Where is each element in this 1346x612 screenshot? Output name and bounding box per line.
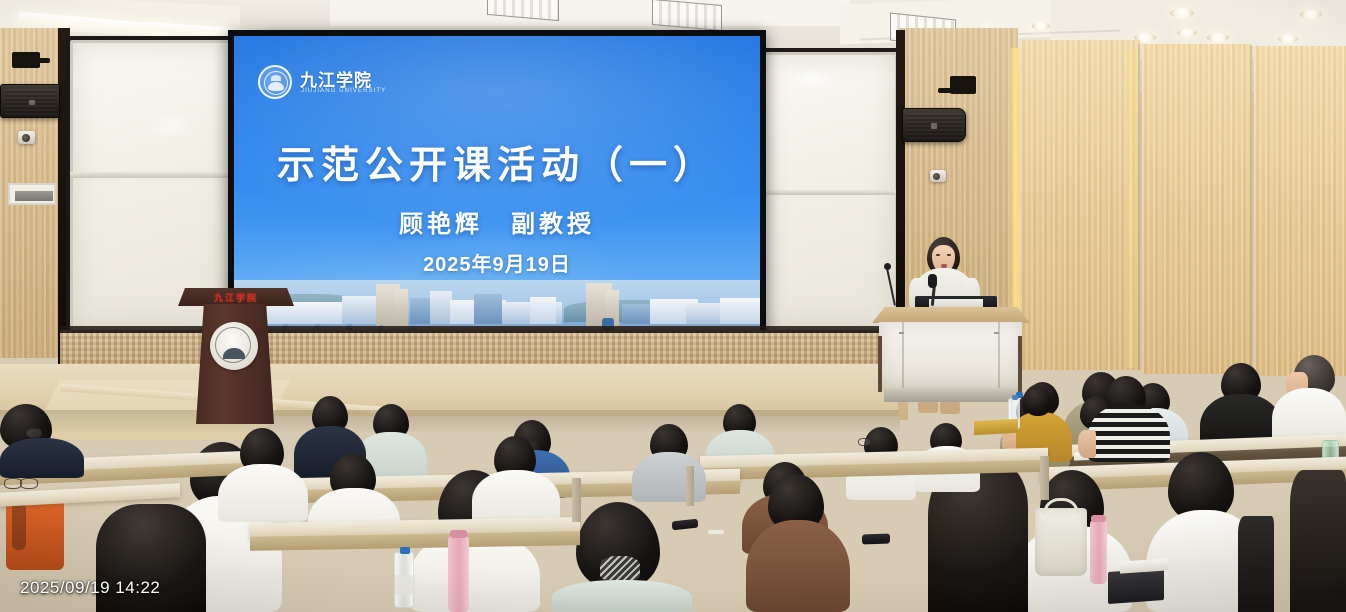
whiteboard-rail-left	[70, 172, 234, 178]
desk-leg	[1040, 456, 1049, 500]
projection-screen[interactable]: 九江学院 JIUJIANG UNIVERSITY 示范公开课活动（一） 顾艳辉 …	[234, 36, 760, 348]
audience-body	[632, 452, 706, 502]
security-camera-icon	[18, 131, 35, 144]
ceiling-slab-center	[330, 0, 850, 26]
whiteboard-rail-right	[756, 190, 898, 195]
recessed-downlight	[1300, 10, 1322, 19]
recessed-downlight	[1032, 22, 1050, 30]
audience-body-striped	[1088, 404, 1170, 462]
audience-body	[218, 464, 308, 522]
wall-speaker-icon	[0, 84, 60, 118]
recessed-downlight	[1177, 29, 1197, 37]
wall-accent-light-2	[1126, 50, 1135, 368]
microphone-head	[884, 263, 891, 270]
podium-top	[872, 307, 1030, 323]
desk-leg	[686, 466, 694, 506]
stage-top-trim	[60, 326, 900, 333]
university-crest-icon	[258, 65, 292, 99]
university-seal-icon	[210, 322, 258, 370]
wall-panel-4	[1254, 46, 1346, 376]
board-glare	[790, 72, 836, 86]
presenter-eye-l	[936, 254, 940, 256]
recessed-downlight	[1278, 35, 1298, 43]
slide-date: 2025年9月19日	[234, 248, 760, 277]
eyeglasses	[26, 428, 42, 438]
audience-body-front	[552, 580, 692, 612]
podium-base	[884, 388, 1018, 402]
microphone-capsule	[928, 274, 937, 288]
audience-body-front	[746, 520, 850, 612]
slide-title: 示范公开课活动（一）	[234, 134, 760, 189]
wall-panel-3	[1142, 44, 1252, 374]
audience-body	[0, 438, 84, 478]
board-glare	[150, 118, 190, 134]
laptop[interactable]	[1108, 568, 1164, 604]
audience-strap	[1238, 516, 1274, 612]
slide-logo-en: JIUJIANG UNIVERSITY	[301, 88, 386, 94]
lectern-label: 九江学院	[186, 291, 286, 304]
hair-scrunchie	[600, 556, 640, 580]
speaker-bracket-arm	[28, 58, 50, 63]
wall-panel-2	[1020, 40, 1140, 370]
lecture-hall-photo: 九江学院 JIUJIANG UNIVERSITY 示范公开课活动（一） 顾艳辉 …	[0, 0, 1346, 612]
speaker-bracket-arm-right	[938, 88, 956, 93]
wall-panel-left	[8, 183, 56, 205]
smartphone[interactable]	[672, 519, 699, 531]
audience-arm	[1078, 430, 1096, 458]
water-bottle[interactable]	[394, 552, 414, 608]
pink-tumbler[interactable]	[448, 536, 469, 612]
podium-handle[interactable]	[899, 332, 904, 334]
podium-leg-left	[878, 336, 882, 392]
pen[interactable]	[708, 530, 724, 534]
desk-leg	[572, 478, 581, 522]
podium-leg-right	[1018, 336, 1022, 392]
slide-presenter: 顾艳辉 副教授	[234, 204, 760, 239]
eyeglasses	[858, 438, 871, 446]
presenter-shoe-right	[940, 401, 960, 414]
podium-handle[interactable]	[994, 332, 999, 334]
security-camera-icon	[930, 170, 946, 182]
stage-shadow	[0, 410, 900, 432]
presenter-eye-r	[947, 254, 951, 256]
eyeglasses[interactable]	[20, 478, 38, 489]
recessed-downlight	[1207, 33, 1229, 42]
audience-body-front	[1290, 470, 1346, 612]
white-handbag[interactable]	[1035, 508, 1087, 576]
audience-head	[1024, 386, 1052, 416]
wall-speaker-icon	[902, 108, 966, 142]
recessed-downlight	[1170, 8, 1194, 18]
timestamp-watermark: 2025/09/19 14:22	[20, 578, 160, 598]
slide-logo: 九江学院 JIUJIANG UNIVERSITY	[258, 64, 428, 104]
pink-tumbler[interactable]	[1090, 520, 1107, 584]
smartphone[interactable]	[862, 534, 890, 545]
yellow-book[interactable]	[974, 419, 1018, 435]
